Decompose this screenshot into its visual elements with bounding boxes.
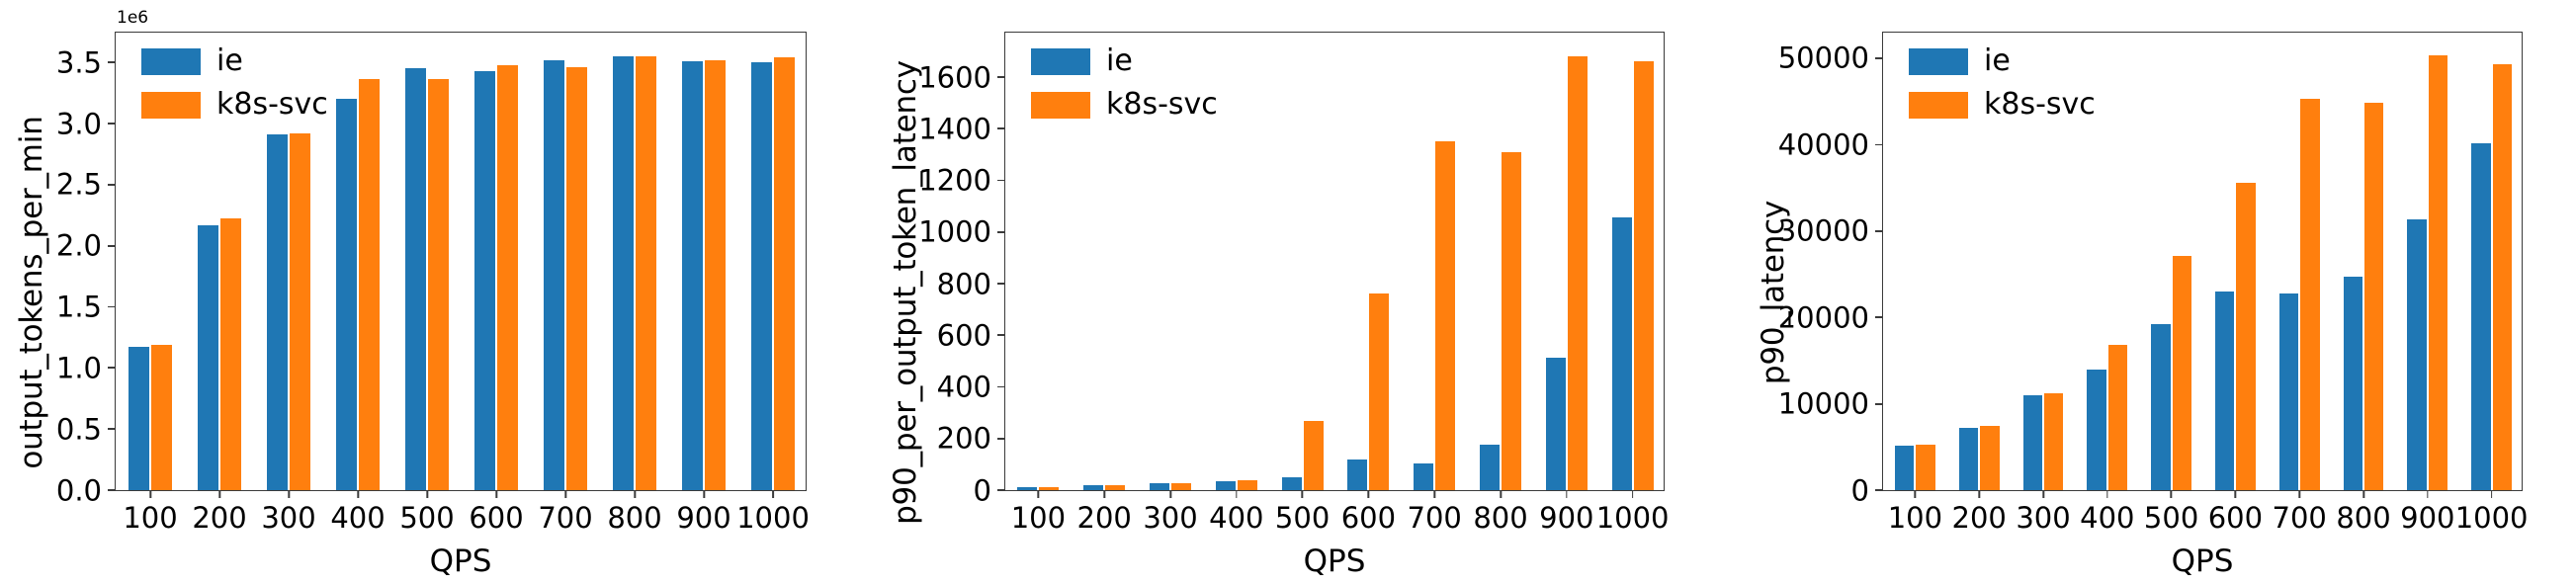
bar-group: [2395, 33, 2459, 490]
bar-ie-400: [2087, 370, 2105, 490]
x-tick-label: 300: [2016, 504, 2070, 533]
figure-bar-chart-row: output_tokens_per_min1e60.00.51.01.52.02…: [0, 0, 2576, 585]
y-tick-mark: [997, 438, 1005, 440]
x-tick-label: 1000: [1596, 504, 1670, 533]
bar-group: [1468, 33, 1534, 490]
bar-k8s-svc-600: [497, 65, 518, 490]
x-tick-mark: [1169, 490, 1171, 498]
bar-k8s-svc-1000: [2493, 64, 2512, 490]
x-axis-tick: 400: [330, 490, 385, 533]
x-axis-tick: 800: [1473, 490, 1527, 533]
bar-k8s-svc-200: [1105, 485, 1125, 490]
y-tick-label: 600: [937, 321, 991, 350]
bar-k8s-svc-300: [1171, 483, 1191, 490]
y-tick-label: 0.0: [56, 476, 102, 505]
y-tick-mark: [108, 245, 116, 247]
bar-group: [462, 33, 531, 490]
x-tick-label: 800: [607, 504, 661, 533]
legend-swatch-icon: [141, 92, 201, 119]
legend-item-ie: ie: [1909, 46, 2096, 76]
x-axis-label: QPS: [1882, 546, 2523, 577]
x-axis-tick: 500: [399, 490, 454, 533]
x-axis-label: QPS: [1004, 546, 1665, 577]
legend-swatch-icon: [1031, 92, 1090, 119]
plot-area: 0200400600800100012001400160010020030040…: [1004, 32, 1665, 491]
bar-group: [2203, 33, 2268, 490]
y-tick-mark: [108, 123, 116, 125]
x-tick-label: 200: [192, 504, 246, 533]
legend-label: k8s-svc: [1106, 90, 1218, 120]
x-tick-mark: [2042, 490, 2044, 498]
x-axis-tick: 500: [2144, 490, 2198, 533]
y-tick-label: 3.5: [56, 48, 102, 77]
legend-label: k8s-svc: [1984, 90, 2096, 120]
x-tick-label: 300: [261, 504, 315, 533]
legend-swatch-icon: [1909, 92, 1968, 119]
y-axis-label: output_tokens_per_min: [0, 0, 63, 585]
x-tick-mark: [218, 490, 220, 498]
x-tick-mark: [495, 490, 497, 498]
x-tick-mark: [2427, 490, 2429, 498]
y-tick-label: 50000: [1778, 44, 1869, 73]
x-axis-tick: 300: [1143, 490, 1197, 533]
bar-ie-100: [129, 347, 149, 490]
x-tick-mark: [2171, 490, 2173, 498]
y-tick-mark: [997, 334, 1005, 336]
bar-group: [600, 33, 669, 490]
x-tick-mark: [1914, 490, 1916, 498]
bar-k8s-svc-200: [1980, 426, 1999, 490]
x-tick-mark: [772, 490, 774, 498]
x-axis-tick: 200: [1952, 490, 2007, 533]
bar-ie-800: [613, 56, 634, 490]
bar-ie-600: [1347, 460, 1367, 490]
x-tick-label: 900: [676, 504, 730, 533]
bar-group: [323, 33, 392, 490]
x-tick-label: 700: [1408, 504, 1462, 533]
legend-item-ie: ie: [141, 46, 328, 76]
x-tick-label: 700: [2273, 504, 2327, 533]
y-tick-label: 1.5: [56, 293, 102, 322]
bar-ie-900: [2407, 219, 2426, 490]
x-tick-label: 600: [469, 504, 523, 533]
x-tick-mark: [1978, 490, 1980, 498]
bar-k8s-svc-700: [566, 67, 587, 490]
bar-k8s-svc-600: [1369, 293, 1389, 490]
bar-ie-600: [474, 71, 495, 490]
bar-k8s-svc-100: [1916, 445, 1934, 490]
x-tick-label: 400: [330, 504, 385, 533]
y-axis-offset-text: 1e6: [117, 10, 148, 27]
y-tick-mark: [108, 428, 116, 430]
y-tick-mark: [1875, 144, 1883, 146]
x-axis-tick: 300: [261, 490, 315, 533]
bar-ie-300: [267, 134, 288, 490]
bar-group: [1599, 33, 1666, 490]
bar-ie-900: [1546, 358, 1566, 490]
bar-k8s-svc-500: [2173, 256, 2191, 490]
y-tick-mark: [108, 184, 116, 186]
bar-k8s-svc-100: [1039, 487, 1059, 490]
legend-item-k8s-svc: k8s-svc: [1909, 90, 2096, 120]
bar-group: [531, 33, 600, 490]
bar-k8s-svc-700: [1435, 141, 1455, 490]
bar-ie-200: [198, 225, 218, 490]
bar-k8s-svc-500: [1304, 421, 1324, 490]
bar-ie-100: [1017, 487, 1037, 490]
y-tick-label: 200: [937, 425, 991, 454]
x-axis-tick: 300: [2016, 490, 2070, 533]
bar-k8s-svc-800: [2364, 103, 2383, 490]
bar-k8s-svc-400: [1238, 480, 1257, 490]
bar-ie-300: [2023, 395, 2042, 490]
y-axis-label: p90_latency: [1716, 0, 1831, 585]
x-axis-tick: 100: [1888, 490, 1942, 533]
x-axis-tick: 900: [2400, 490, 2454, 533]
x-axis-tick: 900: [676, 490, 730, 533]
y-tick-mark: [997, 76, 1005, 78]
x-axis-tick: 1000: [1596, 490, 1670, 533]
y-tick-mark: [1875, 57, 1883, 59]
y-tick-label: 40000: [1778, 130, 1869, 159]
x-tick-label: 400: [1209, 504, 1263, 533]
y-tick-label: 1000: [918, 218, 991, 247]
bar-ie-100: [1895, 446, 1914, 490]
bar-ie-400: [336, 99, 357, 490]
x-tick-mark: [2106, 490, 2108, 498]
y-tick-label: 1600: [918, 63, 991, 92]
x-axis-tick: 400: [1209, 490, 1263, 533]
x-tick-label: 700: [538, 504, 592, 533]
x-tick-mark: [1367, 490, 1369, 498]
bar-ie-700: [1414, 463, 1433, 490]
y-tick-label: 0: [1851, 476, 1869, 505]
x-tick-mark: [1302, 490, 1304, 498]
x-axis-tick: 1000: [2455, 490, 2529, 533]
legend: iek8s-svc: [1031, 46, 1218, 120]
bar-group: [1533, 33, 1599, 490]
bar-group: [2139, 33, 2203, 490]
plot-area: 0100002000030000400005000010020030040050…: [1882, 32, 2523, 491]
bar-k8s-svc-300: [2044, 393, 2063, 490]
bar-ie-500: [2151, 324, 2170, 490]
x-tick-mark: [426, 490, 428, 498]
bar-group: [2268, 33, 2332, 490]
bar-ie-300: [1150, 483, 1169, 490]
x-axis-tick: 700: [1408, 490, 1462, 533]
bar-k8s-svc-1000: [1634, 61, 1654, 490]
legend-swatch-icon: [141, 48, 201, 75]
legend-swatch-icon: [1909, 48, 1968, 75]
bar-k8s-svc-900: [705, 60, 726, 490]
x-tick-label: 100: [1011, 504, 1066, 533]
bar-ie-800: [2344, 277, 2362, 490]
bar-ie-200: [1959, 428, 1978, 490]
y-tick-label: 0: [974, 476, 991, 505]
x-tick-mark: [357, 490, 359, 498]
x-axis-label: QPS: [115, 546, 807, 577]
bar-ie-400: [1216, 481, 1236, 490]
y-tick-mark: [108, 489, 116, 491]
x-tick-mark: [1037, 490, 1039, 498]
x-axis-tick: 1000: [736, 490, 810, 533]
x-tick-label: 300: [1143, 504, 1197, 533]
x-tick-label: 1000: [2455, 504, 2529, 533]
bar-k8s-svc-100: [151, 345, 172, 490]
x-tick-mark: [2362, 490, 2364, 498]
x-axis-tick: 800: [2336, 490, 2390, 533]
y-tick-mark: [997, 180, 1005, 182]
x-tick-mark: [634, 490, 636, 498]
x-tick-mark: [1566, 490, 1568, 498]
bar-group: [2332, 33, 2396, 490]
chart-panel-3: p90_latency01000020000300004000050000100…: [1716, 0, 2574, 585]
x-axis-tick: 600: [469, 490, 523, 533]
x-tick-label: 500: [399, 504, 454, 533]
bar-k8s-svc-500: [428, 79, 449, 490]
y-tick-label: 400: [937, 374, 991, 402]
bar-group: [1335, 33, 1402, 490]
x-tick-label: 200: [1952, 504, 2007, 533]
x-tick-mark: [564, 490, 566, 498]
bar-k8s-svc-400: [359, 79, 380, 490]
bar-k8s-svc-300: [290, 133, 310, 490]
x-tick-label: 600: [1341, 504, 1396, 533]
y-tick-mark: [1875, 230, 1883, 232]
y-tick-label: 1400: [918, 115, 991, 143]
y-tick-label: 10000: [1778, 390, 1869, 419]
legend-item-ie: ie: [1031, 46, 1218, 76]
bar-k8s-svc-600: [2236, 183, 2255, 490]
x-axis-tick: 700: [2273, 490, 2327, 533]
x-tick-mark: [2491, 490, 2493, 498]
x-tick-label: 500: [2144, 504, 2198, 533]
y-tick-label: 800: [937, 270, 991, 298]
bar-group: [738, 33, 808, 490]
x-tick-label: 800: [2336, 504, 2390, 533]
x-tick-mark: [149, 490, 151, 498]
plot-area: 0.00.51.01.52.02.53.03.51002003004005006…: [115, 32, 807, 491]
legend-label: ie: [216, 46, 243, 76]
bar-group: [1269, 33, 1335, 490]
x-tick-mark: [2298, 490, 2300, 498]
x-tick-mark: [1500, 490, 1502, 498]
x-axis-tick: 500: [1275, 490, 1330, 533]
y-tick-mark: [1875, 403, 1883, 405]
chart-panel-2: p90_per_output_token_latency020040060080…: [858, 0, 1716, 585]
legend: iek8s-svc: [1909, 46, 2096, 120]
bar-group: [2459, 33, 2524, 490]
x-axis-tick: 800: [607, 490, 661, 533]
y-tick-label: 1200: [918, 167, 991, 196]
bar-ie-1000: [751, 62, 772, 490]
x-axis-tick: 100: [1011, 490, 1066, 533]
chart-panel-1: output_tokens_per_min1e60.00.51.01.52.02…: [0, 0, 858, 585]
x-axis-tick: 100: [123, 490, 177, 533]
x-tick-mark: [1433, 490, 1435, 498]
bar-group: [1402, 33, 1468, 490]
x-tick-mark: [703, 490, 705, 498]
bar-ie-600: [2215, 292, 2234, 490]
x-tick-label: 800: [1473, 504, 1527, 533]
y-tick-label: 3.0: [56, 110, 102, 138]
x-axis-tick: 400: [2080, 490, 2134, 533]
x-axis-tick: 900: [1539, 490, 1593, 533]
x-tick-mark: [1103, 490, 1105, 498]
x-axis-tick: 600: [1341, 490, 1396, 533]
x-tick-label: 200: [1077, 504, 1132, 533]
x-axis-tick: 200: [192, 490, 246, 533]
x-tick-mark: [2234, 490, 2236, 498]
bar-ie-700: [2279, 293, 2298, 490]
x-axis-tick: 600: [2208, 490, 2263, 533]
bar-ie-900: [682, 61, 703, 490]
x-tick-mark: [1236, 490, 1238, 498]
legend-swatch-icon: [1031, 48, 1090, 75]
y-tick-mark: [108, 61, 116, 63]
y-tick-mark: [997, 283, 1005, 285]
y-tick-mark: [1875, 316, 1883, 318]
y-tick-label: 30000: [1778, 217, 1869, 246]
bar-k8s-svc-200: [220, 218, 241, 490]
y-tick-mark: [108, 306, 116, 308]
x-tick-label: 600: [2208, 504, 2263, 533]
x-tick-label: 900: [2400, 504, 2454, 533]
bar-k8s-svc-700: [2300, 99, 2319, 490]
legend-item-k8s-svc: k8s-svc: [1031, 90, 1218, 120]
y-tick-label: 2.5: [56, 171, 102, 200]
bar-k8s-svc-900: [1568, 56, 1588, 490]
y-tick-label: 20000: [1778, 303, 1869, 332]
bar-ie-1000: [1612, 217, 1632, 490]
bar-ie-200: [1083, 485, 1103, 490]
x-axis-tick: 700: [538, 490, 592, 533]
bar-group: [669, 33, 738, 490]
legend-label: ie: [1106, 46, 1133, 76]
y-tick-label: 0.5: [56, 415, 102, 444]
legend-label: ie: [1984, 46, 2011, 76]
y-tick-mark: [997, 127, 1005, 129]
bar-k8s-svc-800: [1502, 152, 1521, 490]
y-tick-label: 1.0: [56, 354, 102, 382]
y-tick-mark: [108, 367, 116, 369]
x-tick-label: 400: [2080, 504, 2134, 533]
bar-ie-500: [1282, 477, 1302, 490]
y-tick-mark: [1875, 489, 1883, 491]
legend-item-k8s-svc: k8s-svc: [141, 90, 328, 120]
legend-label: k8s-svc: [216, 90, 328, 120]
y-tick-mark: [997, 231, 1005, 233]
x-tick-label: 100: [123, 504, 177, 533]
x-tick-label: 900: [1539, 504, 1593, 533]
bar-k8s-svc-400: [2108, 345, 2127, 490]
y-tick-label: 2.0: [56, 232, 102, 261]
bar-ie-700: [544, 60, 564, 490]
x-tick-label: 100: [1888, 504, 1942, 533]
bar-ie-500: [405, 68, 426, 490]
x-axis-tick: 200: [1077, 490, 1132, 533]
bar-ie-800: [1480, 445, 1500, 491]
bar-k8s-svc-800: [636, 56, 656, 490]
x-tick-label: 1000: [736, 504, 810, 533]
x-tick-mark: [288, 490, 290, 498]
x-tick-mark: [1632, 490, 1634, 498]
y-tick-mark: [997, 489, 1005, 491]
y-tick-mark: [997, 386, 1005, 388]
bar-k8s-svc-900: [2429, 55, 2447, 490]
bar-group: [392, 33, 462, 490]
bar-k8s-svc-1000: [774, 57, 795, 490]
x-tick-label: 500: [1275, 504, 1330, 533]
legend: iek8s-svc: [141, 46, 328, 120]
bar-ie-1000: [2471, 143, 2490, 490]
